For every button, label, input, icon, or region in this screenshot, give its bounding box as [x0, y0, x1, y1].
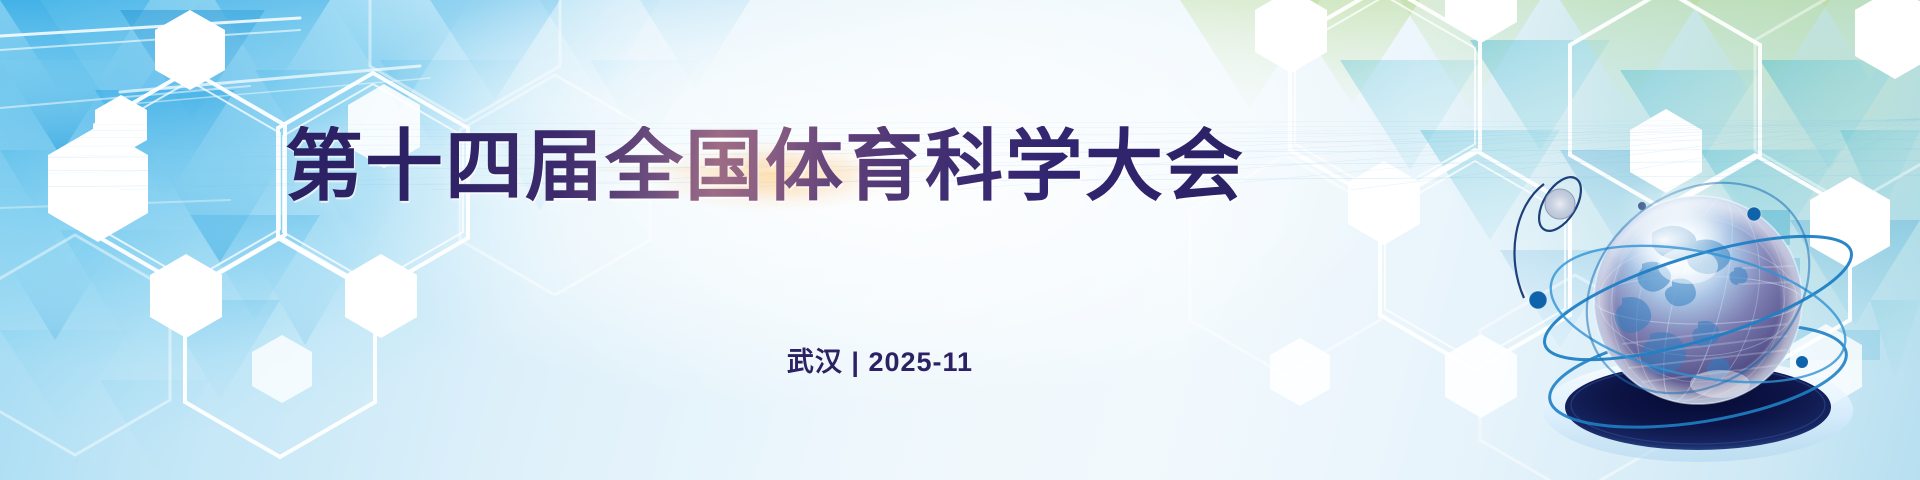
glass-globe-graphic — [1502, 148, 1902, 478]
page-title: 第十四届全国体育科学大会 — [285, 126, 1245, 208]
title-container: 第十四届全国体育科学大会 — [0, 126, 1530, 208]
subtitle-container: 武汉 | 2025-11 — [0, 340, 1760, 379]
conference-banner: .hexline{fill:none;stroke:#ffffff;stroke… — [0, 0, 1920, 480]
event-location-date: 武汉 | 2025-11 — [787, 340, 973, 379]
